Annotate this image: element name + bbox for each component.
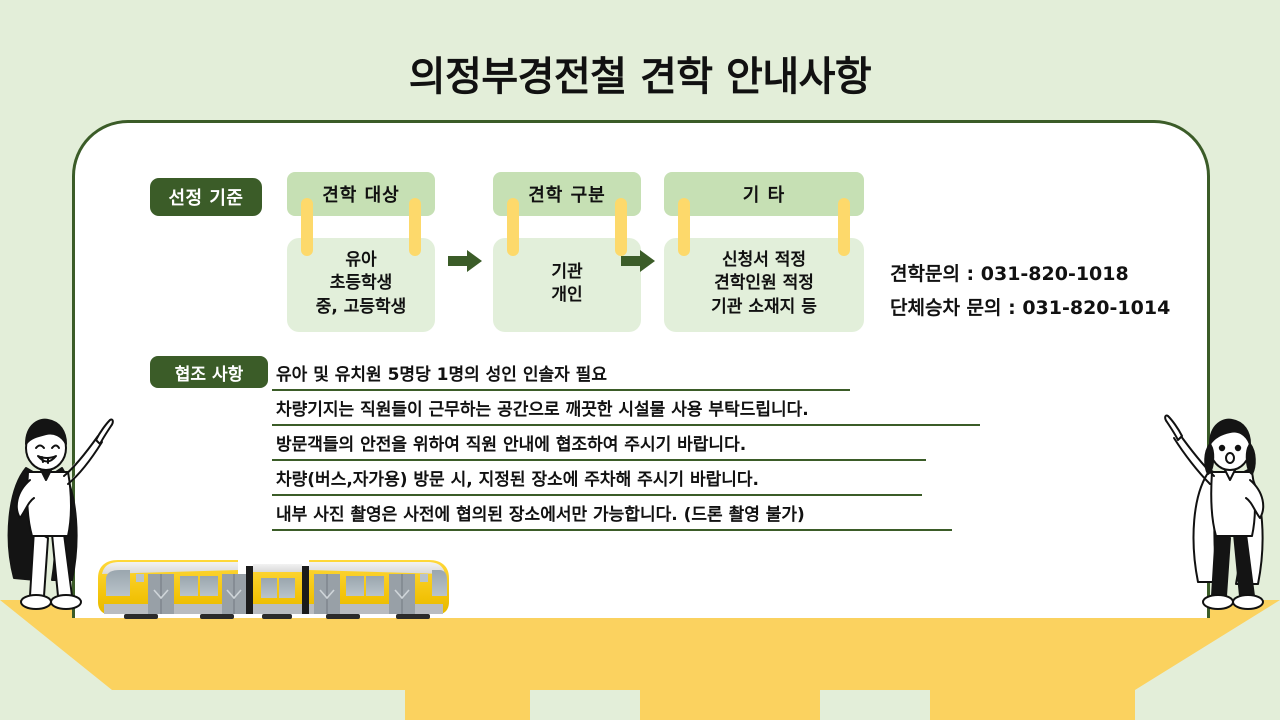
flow-card-other[interactable]: 기 타 신청서 적정 견학인원 적정 기관 소재지 등 [664,172,864,332]
selection-criteria-badge: 선정 기준 [150,178,262,216]
flow-card-target-body: 유아 초등학생 중, 고등학생 [287,238,435,332]
cooperation-item: 차량기지는 직원들이 근무하는 공간으로 깨끗한 시설물 사용 부탁드립니다. [272,391,980,426]
flow-card-target-header: 견학 대상 [287,172,435,216]
flow-card-other-body: 신청서 적정 견학인원 적정 기관 소재지 등 [664,238,864,332]
yellow-light-rail-train-icon [96,556,451,624]
flow-card-other-header: 기 타 [664,172,864,216]
cooperation-item: 유아 및 유치원 5명당 1명의 성인 인솔자 필요 [272,356,850,391]
arrow-right-icon [621,250,655,272]
girl-with-cape-pointing-icon [1164,410,1280,625]
contact-info: 견학문의 : 031-820-1018 단체승차 문의 : 031-820-10… [890,258,1170,326]
flow-card-type-body: 기관 개인 [493,238,641,332]
contact-group-boarding-inquiry: 단체승차 문의 : 031-820-1014 [890,292,1170,326]
cooperation-item: 방문객들의 안전을 위하여 직원 안내에 협조하여 주시기 바랍니다. [272,426,926,461]
arrow-right-icon [448,250,482,272]
cooperation-badge: 협조 사항 [150,356,268,388]
contact-tour-inquiry: 견학문의 : 031-820-1018 [890,258,1170,292]
cooperation-item: 차량(버스,자가용) 방문 시, 지정된 장소에 주차해 주시기 바랍니다. [272,461,922,496]
flow-card-type[interactable]: 견학 구분 기관 개인 [493,172,641,332]
flow-card-target[interactable]: 견학 대상 유아 초등학생 중, 고등학생 [287,172,435,332]
flow-card-type-header: 견학 구분 [493,172,641,216]
cooperation-section: 협조 사항 유아 및 유치원 5명당 1명의 성인 인솔자 필요 차량기지는 직… [150,356,980,531]
page-title: 의정부경전철 견학 안내사항 [0,44,1280,102]
cooperation-item: 내부 사진 촬영은 사전에 협의된 장소에서만 가능합니다. (드론 촬영 불가… [272,496,952,531]
